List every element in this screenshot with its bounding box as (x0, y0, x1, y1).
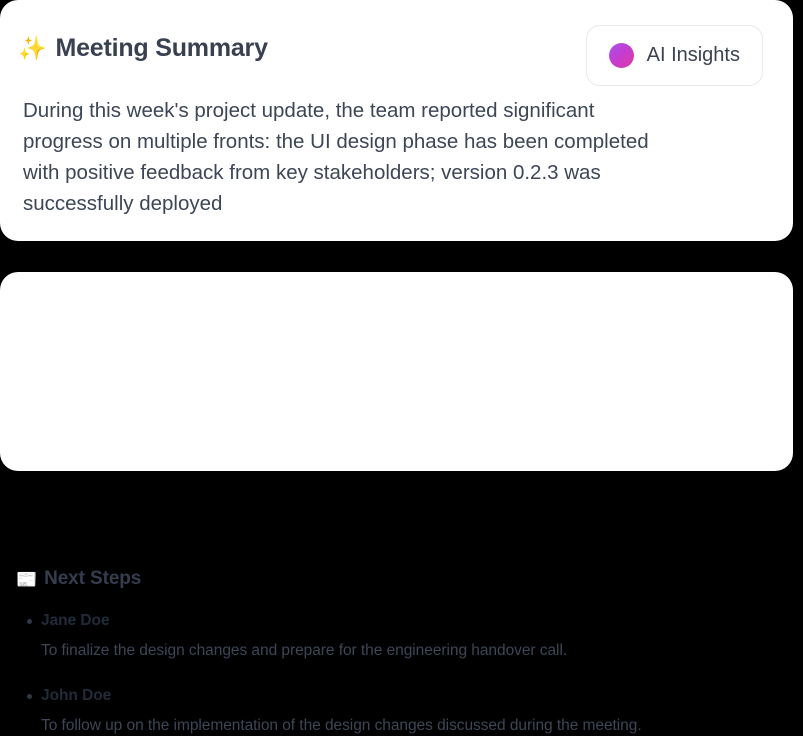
list-item-owner: John Doe (41, 685, 793, 706)
ai-insights-button[interactable]: AI Insights (586, 25, 763, 86)
meeting-summary-text: During this week's project update, the t… (23, 95, 673, 219)
next-steps-list: Jane Doe To finalize the design changes … (0, 610, 793, 736)
next-steps-heading: 📰 Next Steps (16, 568, 141, 590)
newspaper-emoji: 📰 (16, 571, 37, 588)
bullet-icon (27, 694, 32, 699)
next-steps-heading-text: Next Steps (44, 568, 141, 590)
page-title-text: Meeting Summary (55, 34, 267, 63)
meeting-summary-card: ✨ Meeting Summary AI Insights During thi… (0, 0, 793, 241)
summary-card-header: ✨ Meeting Summary AI Insights (0, 0, 793, 92)
list-item-detail: To follow up on the implementation of th… (41, 715, 793, 736)
ai-insights-label: AI Insights (647, 44, 740, 67)
list-item-detail: To finalize the design changes and prepa… (41, 640, 793, 661)
gradient-dot-icon (609, 43, 634, 68)
list-item: Jane Doe To finalize the design changes … (0, 610, 793, 661)
bullet-icon (27, 619, 32, 624)
list-item-owner: Jane Doe (41, 610, 793, 631)
sparkles-emoji: ✨ (18, 37, 46, 60)
screen-root: ✨ Meeting Summary AI Insights During thi… (0, 0, 803, 477)
list-item: John Doe To follow up on the implementat… (0, 685, 793, 736)
page-title: ✨ Meeting Summary (18, 34, 268, 63)
next-steps-card: 📰 Next Steps Jane Doe To finalize the de… (0, 272, 793, 471)
